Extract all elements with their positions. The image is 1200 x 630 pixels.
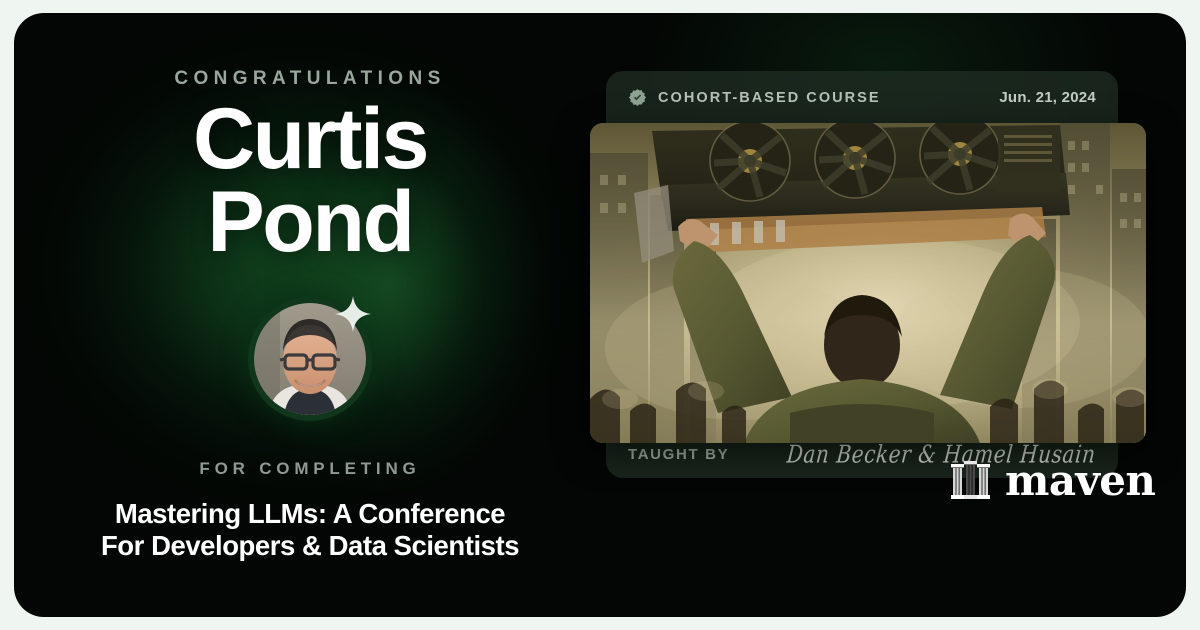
course-date: Jun. 21, 2024 [999,89,1096,106]
certificate-panel: CONGRATULATIONS Curtis Pond [14,13,1186,617]
course-card-header: COHORT-BASED COURSE Jun. 21, 2024 [606,71,1118,124]
course-hero-image [590,123,1146,443]
recipient-first-name: Curtis [193,98,427,181]
recipient-column: CONGRATULATIONS Curtis Pond [14,13,606,617]
maven-pillars-icon [951,461,990,502]
course-title-line-2: For Developers & Data Scientists [50,530,570,562]
course-column: COHORT-BASED COURSE Jun. 21, 2024 TAUGHT… [606,13,1186,617]
recipient-last-name: Pond [193,181,427,264]
course-title: Mastering LLMs: A Conference For Develop… [50,498,570,562]
for-completing-label: FOR COMPLETING [199,459,420,479]
course-card-kicker: COHORT-BASED COURSE [658,90,881,106]
taught-by-label: TAUGHT BY [628,446,729,463]
maven-logo: maven [951,460,1155,502]
recipient-name: Curtis Pond [193,98,427,265]
avatar [248,297,372,421]
course-title-line-1: Mastering LLMs: A Conference [50,498,570,530]
maven-wordmark: maven [1005,460,1155,502]
avatar-ring [248,297,372,421]
congratulations-label: CONGRATULATIONS [174,68,445,90]
certificate-frame: CONGRATULATIONS Curtis Pond [0,0,1200,630]
verified-check-icon [628,88,647,107]
